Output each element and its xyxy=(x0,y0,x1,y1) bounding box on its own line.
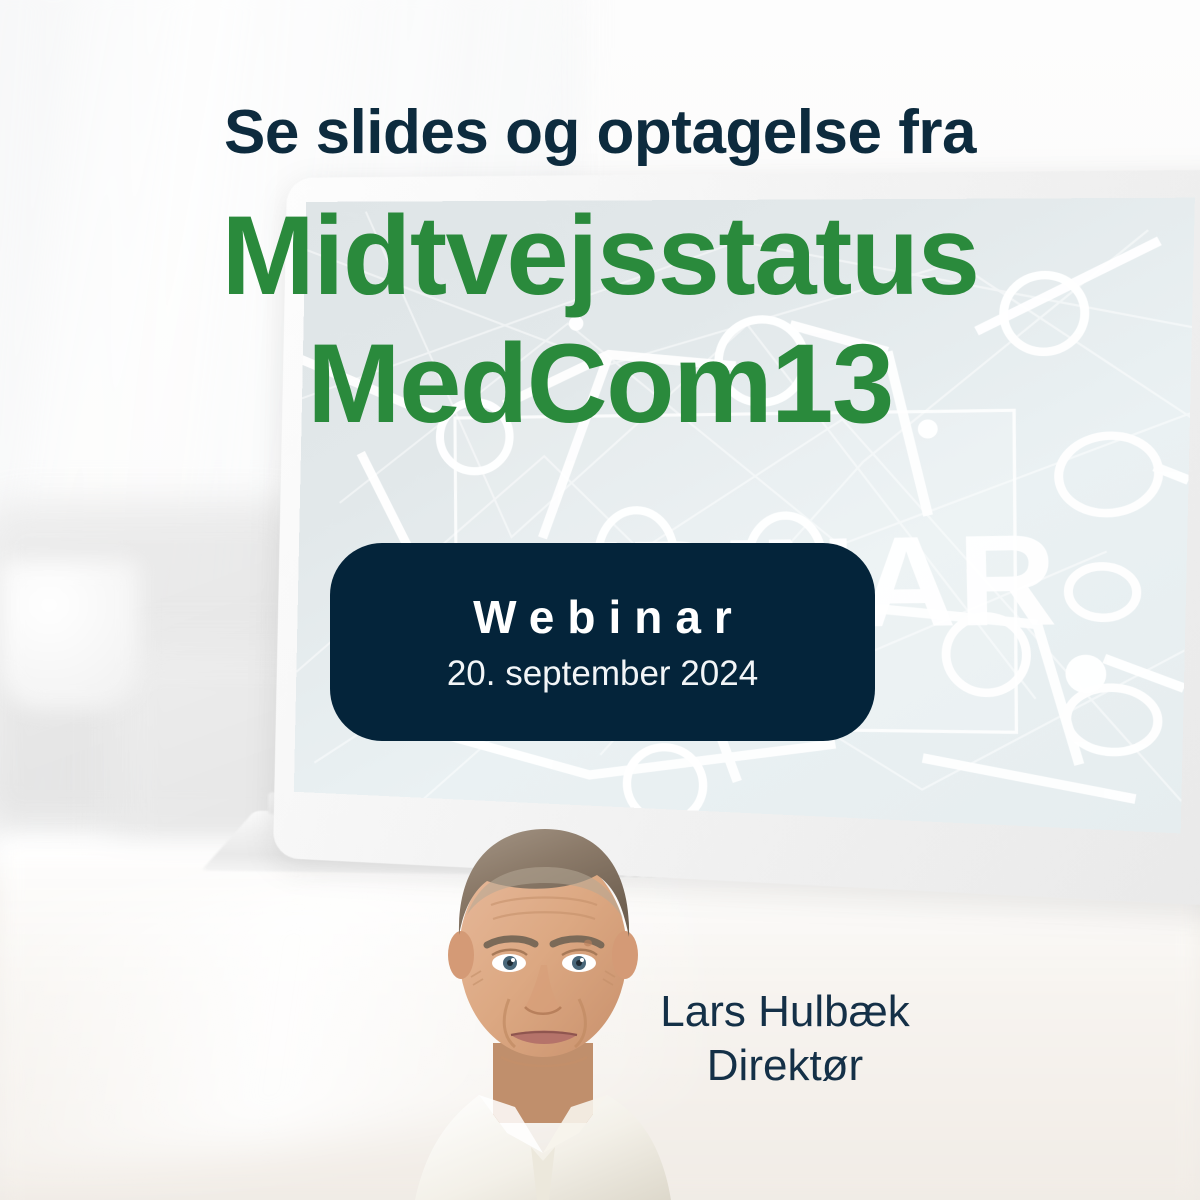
badge-label: Webinar xyxy=(460,594,745,640)
page-title: Midtvejsstatus MedCom13 xyxy=(0,198,1200,443)
title-line-1: Midtvejsstatus xyxy=(222,193,979,318)
speaker-role: Direktør xyxy=(600,1039,970,1093)
webinar-badge: Webinar 20. september 2024 xyxy=(330,543,875,741)
speaker-name: Lars Hulbæk xyxy=(600,985,970,1039)
badge-date: 20. september 2024 xyxy=(447,656,758,691)
webinar-promo-poster: WEBINAR Se slides og optagelse fra Midtv… xyxy=(0,0,1200,1200)
speaker-info: Lars Hulbæk Direktør xyxy=(600,985,970,1092)
headline-eyebrow: Se slides og optagelse fra xyxy=(0,100,1200,165)
title-line-2: MedCom13 xyxy=(0,326,1200,442)
background-cup xyxy=(0,560,140,710)
